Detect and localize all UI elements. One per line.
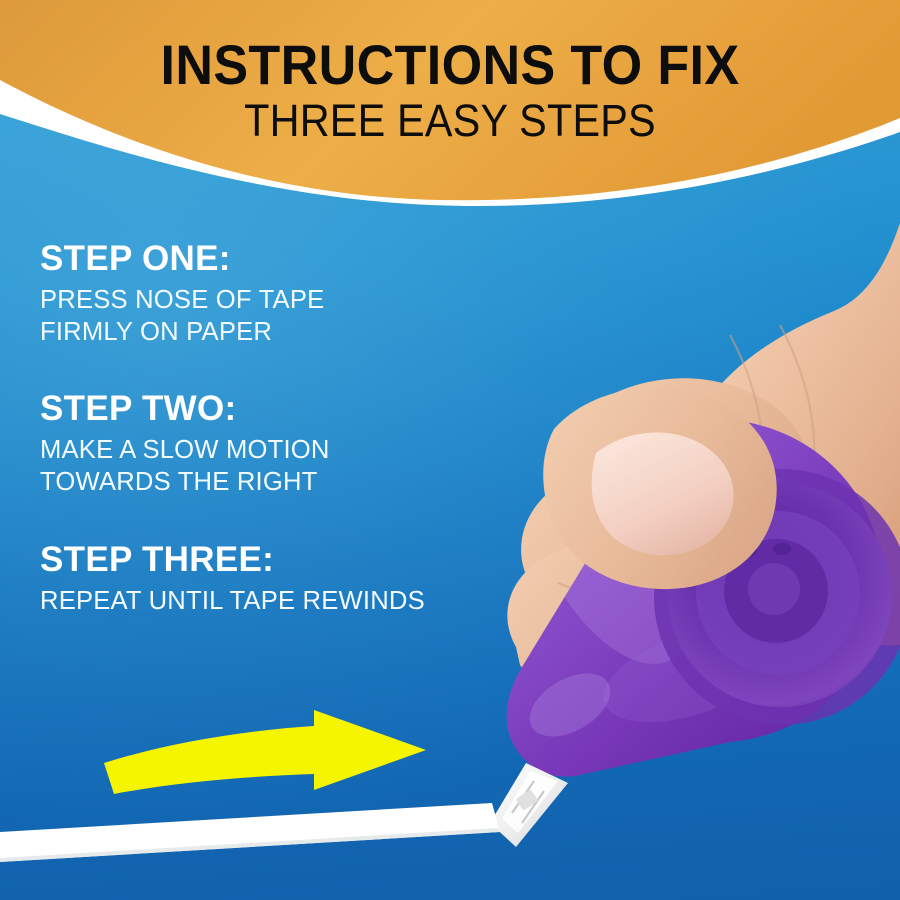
step-two-heading: STEP TWO: <box>40 390 560 427</box>
wheel-core <box>748 563 800 615</box>
steps-list: STEP ONE: PRESS NOSE OF TAPE FIRMLY ON P… <box>40 240 560 616</box>
step-two-line-2: TOWARDS THE RIGHT <box>40 465 552 497</box>
step-three-line-1: REPEAT UNTIL TAPE REWINDS <box>40 584 552 616</box>
step-one-body: PRESS NOSE OF TAPE FIRMLY ON PAPER <box>40 283 552 347</box>
step-item-one: STEP ONE: PRESS NOSE OF TAPE FIRMLY ON P… <box>40 240 560 348</box>
step-three-body: REPEAT UNTIL TAPE REWINDS <box>40 584 552 616</box>
step-one-line-2: FIRMLY ON PAPER <box>40 315 552 347</box>
step-item-two: STEP TWO: MAKE A SLOW MOTION TOWARDS THE… <box>40 390 560 498</box>
step-one-heading: STEP ONE: <box>40 240 560 277</box>
page-title: INSTRUCTIONS TO FIX <box>32 0 869 94</box>
step-item-three: STEP THREE: REPEAT UNTIL TAPE REWINDS <box>40 541 560 616</box>
instructions-poster: INSTRUCTIONS TO FIX THREE EASY STEPS <box>0 0 900 900</box>
step-two-body: MAKE A SLOW MOTION TOWARDS THE RIGHT <box>40 433 552 497</box>
step-one-line-1: PRESS NOSE OF TAPE <box>40 283 552 315</box>
tape-strip-icon <box>0 780 560 900</box>
step-two-line-1: MAKE A SLOW MOTION <box>40 433 552 465</box>
title-block: INSTRUCTIONS TO FIX THREE EASY STEPS <box>0 0 900 145</box>
page-subtitle: THREE EASY STEPS <box>36 94 864 145</box>
step-three-heading: STEP THREE: <box>40 541 560 578</box>
